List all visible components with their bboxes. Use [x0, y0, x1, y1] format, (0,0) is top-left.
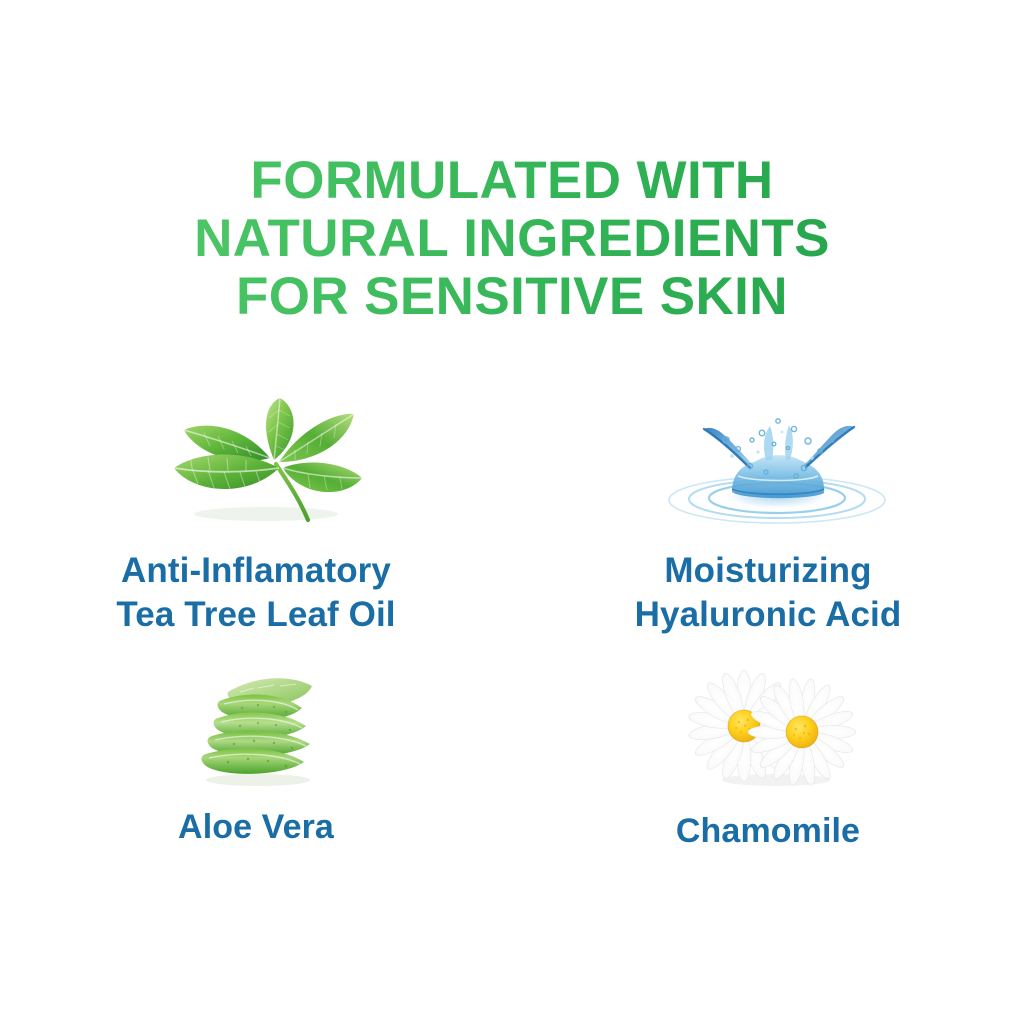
tea-tree-leaves-icon [148, 396, 378, 531]
ingredient-card-aloe-vera: Aloe Vera [0, 658, 512, 888]
chamomile-flowers-icon [680, 668, 870, 793]
ingredient-caption: Chamomile [676, 809, 860, 853]
headline-line-3: FOR SENSITIVE SKIN [0, 268, 1024, 326]
ingredients-infographic: FORMULATED WITH NATURAL INGREDIENTS FOR … [0, 0, 1024, 1024]
ingredient-grid: Anti-Inflamatory Tea Tree Leaf Oil [0, 396, 1024, 888]
aloe-vera-slices-icon [166, 664, 356, 789]
ingredient-card-chamomile: Chamomile [512, 658, 1024, 888]
ingredient-caption: Anti-Inflamatory Tea Tree Leaf Oil [116, 549, 395, 637]
headline-line-1: FORMULATED WITH [0, 152, 1024, 210]
water-splash-icon [662, 396, 892, 531]
ingredient-card-tea-tree: Anti-Inflamatory Tea Tree Leaf Oil [0, 396, 512, 658]
ingredient-card-hyaluronic-acid: Moisturizing Hyaluronic Acid [512, 396, 1024, 658]
ingredient-caption: Moisturizing Hyaluronic Acid [635, 549, 902, 637]
page-title: FORMULATED WITH NATURAL INGREDIENTS FOR … [0, 152, 1024, 326]
ingredient-caption: Aloe Vera [178, 805, 334, 849]
headline-line-2: NATURAL INGREDIENTS [0, 210, 1024, 268]
